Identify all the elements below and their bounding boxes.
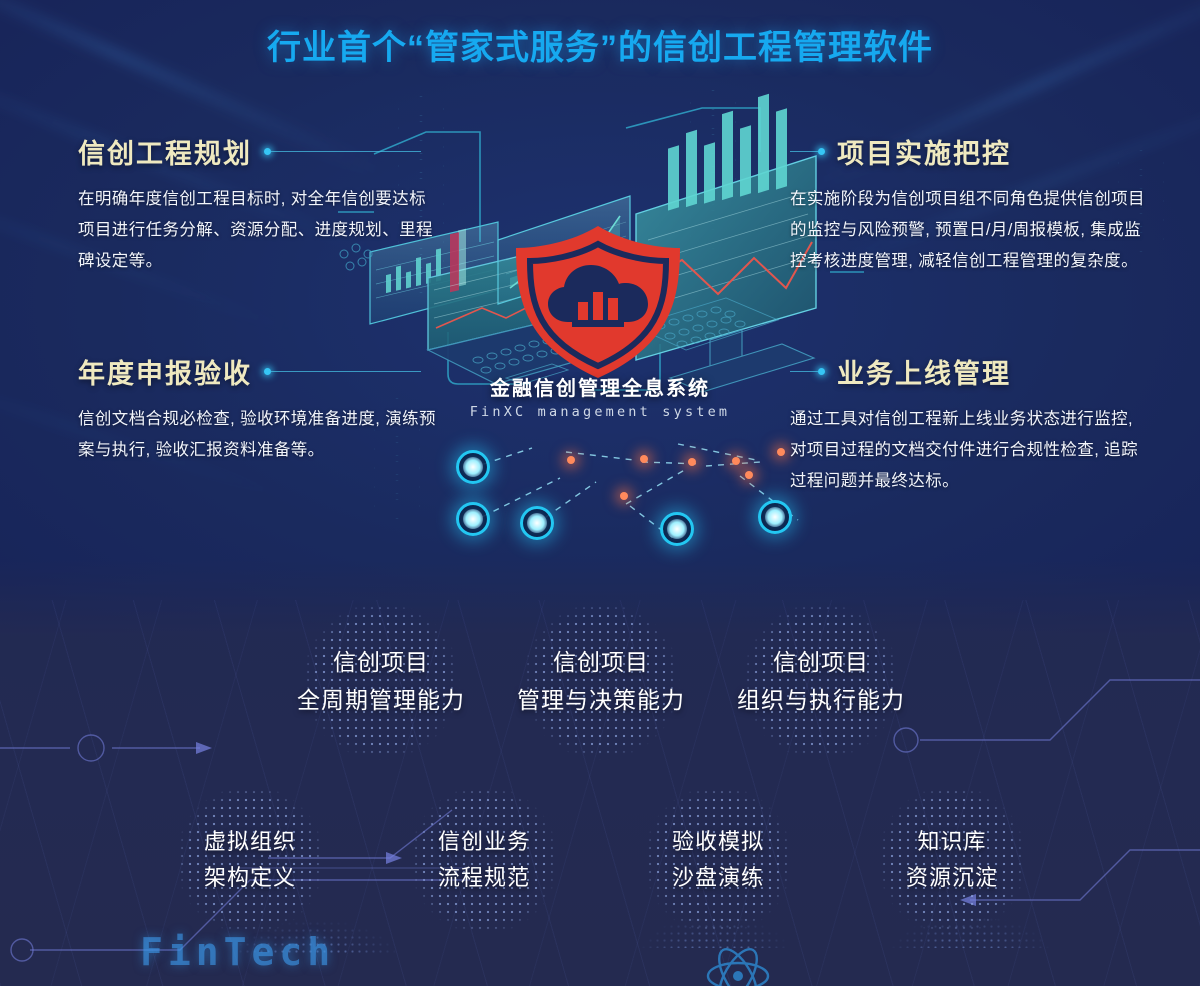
feature-implementation: 项目实施把控 在实施阶段为信创项目组不同角色提供信创项目的监控与风险预警, 预置…	[790, 132, 1150, 277]
sphere-line-1: 信创项目	[553, 643, 649, 681]
sphere-line-1: 信创业务	[438, 824, 530, 860]
connector-line	[790, 148, 825, 155]
feature-body: 在实施阶段为信创项目组不同角色提供信创项目的监控与风险预警, 预置日/月/周报模…	[790, 184, 1150, 277]
feature-heading: 业务上线管理	[837, 352, 1011, 391]
accent-dot	[745, 471, 753, 479]
connector-rule	[271, 371, 421, 372]
connector-line	[790, 368, 825, 375]
fintech-watermark: FinTech	[140, 930, 335, 974]
accent-dot	[777, 448, 785, 456]
sphere-line-1: 信创项目	[333, 643, 429, 681]
connector-dot-icon	[818, 148, 825, 155]
sphere-line-2: 流程规范	[438, 860, 530, 896]
accent-dot	[732, 457, 740, 465]
accent-dot	[620, 492, 628, 500]
sphere-line-1: 信创项目	[773, 643, 869, 681]
feature-body: 通过工具对信创工程新上线业务状态进行监控, 对项目过程的文档交付件进行合规性检查…	[790, 404, 1150, 497]
module-sphere: 虚拟组织 架构定义	[162, 772, 338, 948]
sphere-line-2: 沙盘演练	[672, 860, 764, 896]
capability-sphere: 信创项目 组织与执行能力	[728, 588, 914, 774]
feature-business-launch: 业务上线管理 通过工具对信创工程新上线业务状态进行监控, 对项目过程的文档交付件…	[790, 352, 1150, 497]
feature-heading-row: 信创工程规划	[78, 132, 438, 170]
network-node	[520, 506, 554, 540]
accent-dot	[640, 455, 648, 463]
connector-rule	[790, 371, 818, 372]
module-sphere: 验收模拟 沙盘演练	[630, 772, 806, 948]
feature-heading: 项目实施把控	[837, 132, 1011, 171]
connector-line	[264, 368, 421, 375]
feature-body: 在明确年度信创工程目标时, 对全年信创要达标项目进行任务分解、资源分配、进度规划…	[78, 184, 438, 277]
network-node	[660, 512, 694, 546]
feature-body: 信创文档合规必检查, 验收环境准备进度, 演练预案与执行, 验收汇报资料准备等。	[78, 404, 438, 466]
module-sphere: 知识库 资源沉淀	[864, 772, 1040, 948]
feature-heading-row: 项目实施把控	[790, 132, 1150, 170]
feature-heading-row: 业务上线管理	[790, 352, 1150, 390]
sphere-line-1: 验收模拟	[672, 824, 764, 860]
sphere-line-2: 资源沉淀	[906, 860, 998, 896]
sphere-line-2: 管理与决策能力	[517, 681, 685, 719]
feature-heading-row: 年度申报验收	[78, 352, 438, 390]
infographic-canvas: 行业首个“管家式服务”的信创工程管理软件	[0, 0, 1200, 986]
capability-sphere: 信创项目 管理与决策能力	[508, 588, 694, 774]
atom-icon	[700, 938, 776, 986]
feature-annual-acceptance: 年度申报验收 信创文档合规必检查, 验收环境准备进度, 演练预案与执行, 验收汇…	[78, 352, 438, 466]
sphere-line-1: 知识库	[917, 824, 986, 860]
sphere-line-2: 全周期管理能力	[297, 681, 465, 719]
accent-dot	[567, 456, 575, 464]
capability-sphere: 信创项目 全周期管理能力	[288, 588, 474, 774]
connector-rule	[790, 151, 818, 152]
connector-dot-icon	[264, 368, 271, 375]
page-title: 行业首个“管家式服务”的信创工程管理软件	[0, 20, 1200, 69]
sphere-line-2: 组织与执行能力	[737, 681, 905, 719]
connector-line	[264, 148, 421, 155]
sphere-line-2: 架构定义	[204, 860, 296, 896]
connector-dot-icon	[264, 148, 271, 155]
network-node	[456, 502, 490, 536]
module-sphere: 信创业务 流程规范	[396, 772, 572, 948]
feature-heading: 年度申报验收	[78, 352, 252, 391]
connector-rule	[271, 151, 421, 152]
network-node	[456, 450, 490, 484]
connector-dot-icon	[818, 368, 825, 375]
network-node	[758, 500, 792, 534]
accent-dot	[688, 458, 696, 466]
feature-planning: 信创工程规划 在明确年度信创工程目标时, 对全年信创要达标项目进行任务分解、资源…	[78, 132, 438, 277]
feature-heading: 信创工程规划	[78, 132, 252, 171]
sphere-line-1: 虚拟组织	[204, 824, 296, 860]
